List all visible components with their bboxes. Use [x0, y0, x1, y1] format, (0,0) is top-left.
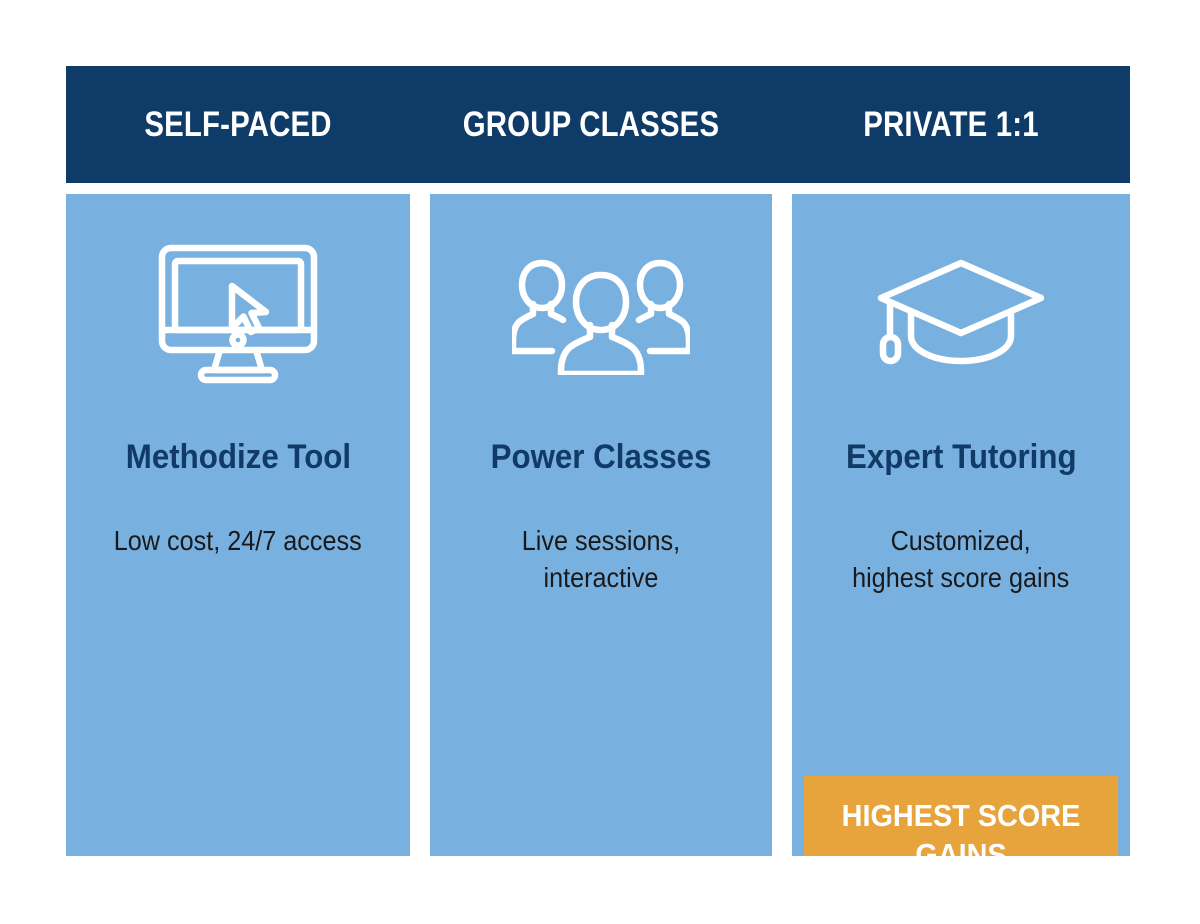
- card-desc-line-2: interactive: [522, 559, 680, 597]
- column-self-paced[interactable]: Methodize Tool Low cost, 24/7 access: [66, 194, 410, 856]
- card-desc-expert-tutoring: Customized, highest score gains: [843, 522, 1078, 598]
- highest-score-gains-badge: HIGHEST SCORE GAINS: [804, 776, 1118, 856]
- column-private-tutoring[interactable]: Expert Tutoring Customized, highest scor…: [792, 194, 1130, 856]
- column-group: Methodize Tool Low cost, 24/7 access: [66, 194, 1130, 856]
- card-title-power-classes: Power Classes: [491, 440, 712, 476]
- card-desc-line-1: Live sessions,: [522, 522, 680, 560]
- header-bar: SELF-PACED GROUP CLASSES PRIVATE 1:1: [66, 66, 1130, 183]
- badge-line-2: GAINS: [915, 836, 1006, 856]
- card-desc-line-2: highest score gains: [852, 559, 1069, 597]
- card-desc-methodize-tool: Low cost, 24/7 access: [105, 522, 371, 560]
- group-people-icon: [512, 238, 690, 388]
- header-group-classes: GROUP CLASSES: [439, 107, 743, 142]
- header-self-paced: SELF-PACED: [94, 107, 383, 142]
- graduation-cap-icon: [876, 238, 1046, 388]
- comparison-board: SELF-PACED GROUP CLASSES PRIVATE 1:1 Met…: [66, 66, 1130, 856]
- badge-line-1: HIGHEST SCORE: [842, 797, 1081, 836]
- desktop-monitor-cursor-icon: [154, 238, 322, 388]
- card-desc-power-classes: Live sessions, interactive: [513, 522, 689, 598]
- card-title-expert-tutoring: Expert Tutoring: [846, 440, 1077, 476]
- header-private-1-1: PRIVATE 1:1: [801, 107, 1102, 142]
- card-desc-line-1: Customized,: [852, 522, 1069, 560]
- card-title-methodize-tool: Methodize Tool: [125, 440, 350, 476]
- column-group-classes[interactable]: Power Classes Live sessions, interactive: [430, 194, 772, 856]
